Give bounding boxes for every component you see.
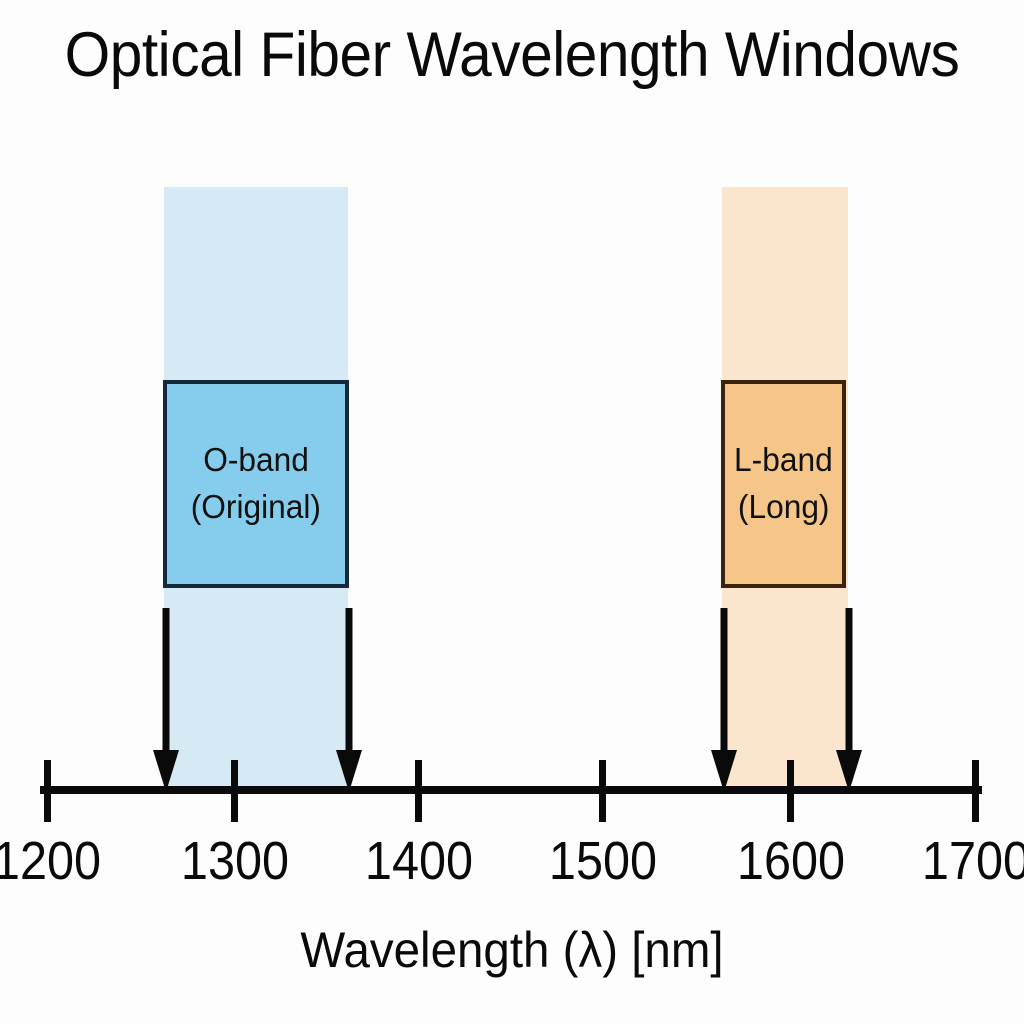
l-band-right-arrow	[834, 608, 864, 794]
x-tick-1700	[972, 760, 979, 822]
o-band-label-box: O-band (Original)	[163, 380, 349, 588]
x-axis-title: Wavelength (λ) [nm]	[26, 925, 999, 975]
o-band-label-line1: O-band	[203, 437, 309, 484]
l-band-label-line1: L-band	[734, 437, 833, 484]
x-tick-label-1200: 1200	[0, 834, 119, 888]
l-band-left-arrow	[709, 608, 739, 794]
chart-title: Optical Fiber Wavelength Windows	[36, 22, 988, 88]
x-tick-label-1400: 1400	[347, 834, 491, 888]
x-tick-label-1600: 1600	[719, 834, 863, 888]
x-tick-label-1700: 1700	[904, 834, 1024, 888]
x-tick-1200	[44, 760, 51, 822]
x-tick-1500	[599, 760, 606, 822]
o-band-label-line2: (Original)	[191, 484, 321, 531]
o-band-right-arrow	[334, 608, 364, 794]
x-tick-label-1300: 1300	[163, 834, 307, 888]
x-tick-label-1500: 1500	[531, 834, 675, 888]
x-tick-1300	[231, 760, 238, 822]
o-band-left-arrow	[151, 608, 181, 794]
x-axis-line	[40, 786, 982, 794]
l-band-label-box: L-band (Long)	[721, 380, 846, 588]
x-tick-1600	[787, 760, 794, 822]
chart-figure: Optical Fiber Wavelength Windows O-band …	[0, 0, 1024, 1024]
l-band-label-line2: (Long)	[738, 484, 830, 531]
x-tick-1400	[415, 760, 422, 822]
